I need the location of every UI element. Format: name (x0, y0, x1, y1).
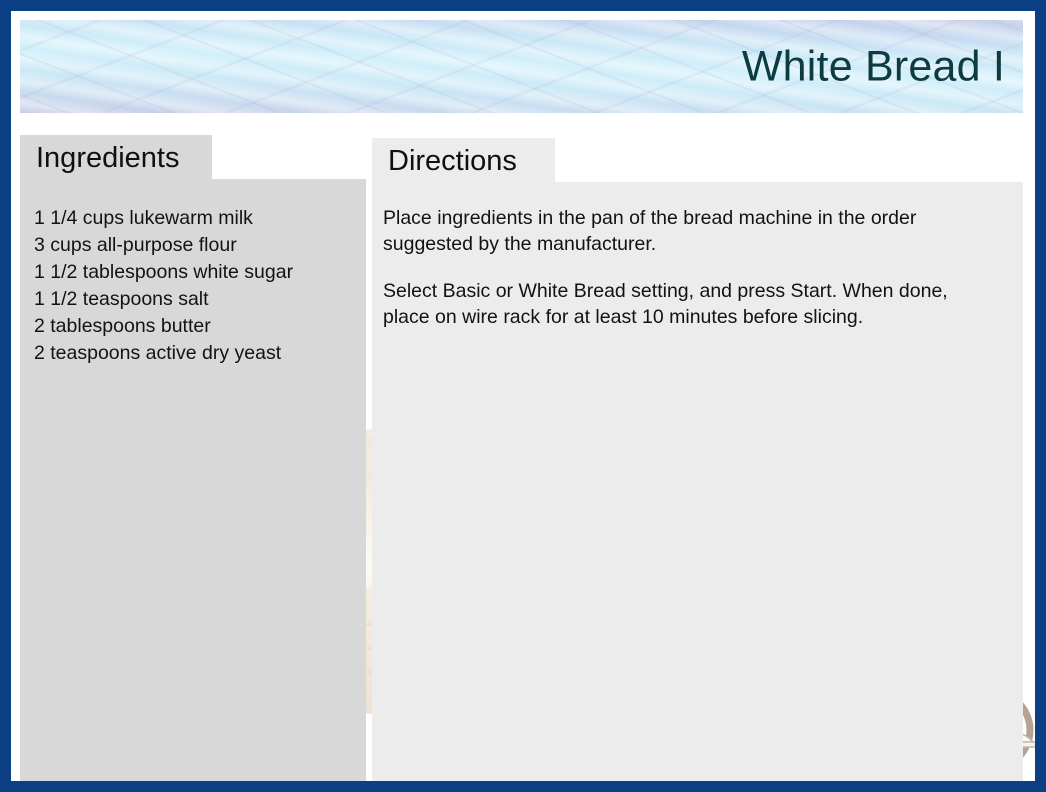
list-item: 2 teaspoons active dry yeast (34, 340, 358, 367)
list-item: 1 1/4 cups lukewarm milk (34, 205, 358, 232)
list-item: 2 tablespoons butter (34, 313, 358, 340)
ingredients-panel: 1 1/4 cups lukewarm milk 3 cups all-purp… (20, 179, 366, 781)
ingredients-list: 1 1/4 cups lukewarm milk 3 cups all-purp… (34, 205, 358, 367)
directions-heading: Directions (372, 138, 555, 184)
directions-panel: Place ingredients in the pan of the brea… (372, 182, 1023, 781)
slide-canvas: White Bread I (11, 11, 1035, 781)
header-banner: White Bread I (20, 20, 1023, 113)
directions-paragraph: Select Basic or White Bread setting, and… (383, 278, 997, 330)
list-item: 3 cups all-purpose flour (34, 232, 358, 259)
page-title: White Bread I (742, 44, 1005, 89)
list-item: 1 1/2 teaspoons salt (34, 286, 358, 313)
recipe-slide: White Bread I (0, 0, 1046, 792)
directions-paragraph: Place ingredients in the pan of the brea… (383, 205, 997, 257)
list-item: 1 1/2 tablespoons white sugar (34, 259, 358, 286)
directions-text: Place ingredients in the pan of the brea… (383, 205, 997, 330)
ingredients-heading: Ingredients (20, 135, 212, 181)
